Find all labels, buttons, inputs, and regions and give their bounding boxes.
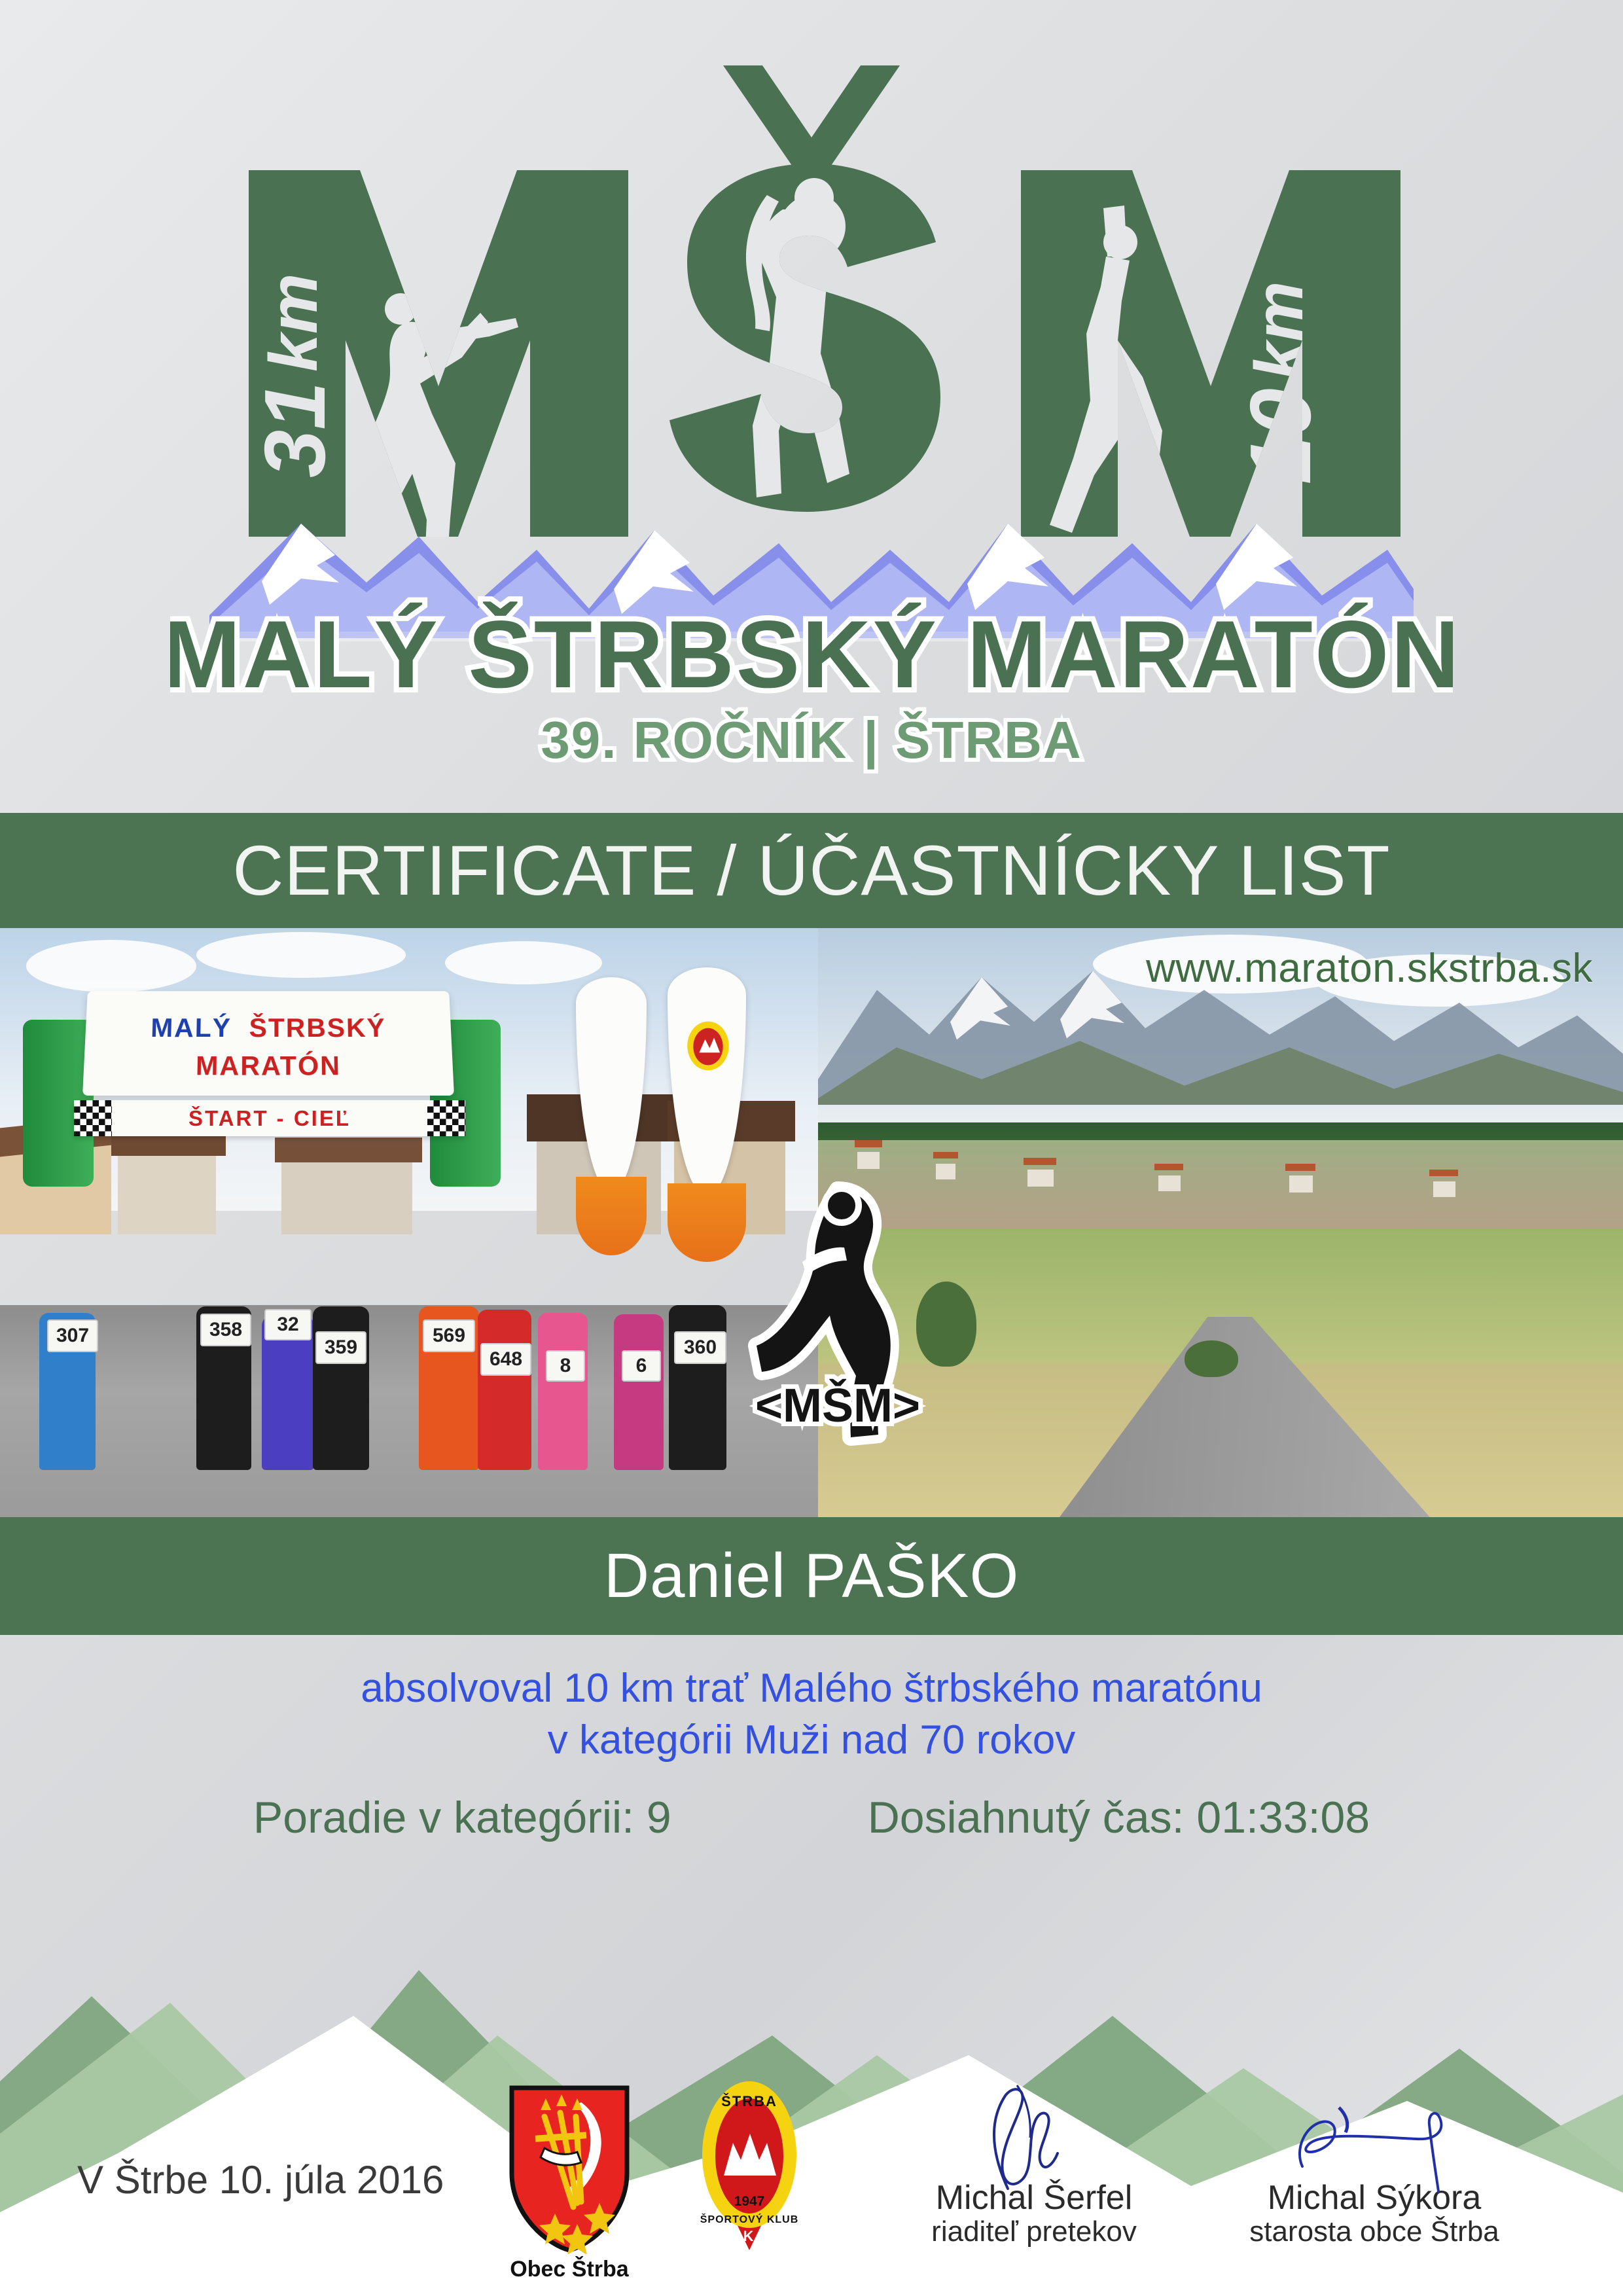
letter-s-center <box>669 164 940 512</box>
svg-text:10: 10 <box>1232 388 1329 484</box>
bib-number: 307 <box>47 1319 98 1352</box>
logo-subtitle: 39. ROČNÍK | ŠTRBA <box>541 711 1082 770</box>
photo-strip: MALÝ ŠTRBSKÝ MARATÓN ŠTART - CIEĽ <box>0 928 1623 1517</box>
certificate-heading-band: CERTIFICATE / ÚČASTNÍCKY LIST <box>0 813 1623 928</box>
signature-mark <box>864 2081 1204 2179</box>
logo-title: MALÝ ŠTRBSKÝ MARATÓN <box>170 601 1453 708</box>
results-row: Poradie v kategórii: 9 Dosiahnutý čas: 0… <box>0 1792 1623 1843</box>
bib-number: 358 <box>200 1314 251 1346</box>
bib-number: 648 <box>480 1343 531 1376</box>
participant-name: Daniel PAŠKO <box>604 1540 1020 1612</box>
rank-in-category: Poradie v kategórii: 9 <box>253 1792 671 1843</box>
letter-m-left: 31 km <box>247 170 628 575</box>
photo-race-start: MALÝ ŠTRBSKÝ MARATÓN ŠTART - CIEĽ <box>0 928 818 1517</box>
emblem-text: <MŠM> <box>755 1379 920 1432</box>
description-line-1: absolvoval 10 km trať Malého štrbského m… <box>0 1662 1623 1714</box>
sks-top-text: ŠTRBA <box>721 2093 777 2109</box>
svg-text:km: km <box>256 274 332 372</box>
certificate-heading: CERTIFICATE / ÚČASTNÍCKY LIST <box>232 835 1390 906</box>
sks-club-words: ŠPORTOVÝ KLUB <box>700 2213 799 2225</box>
bib-number: 360 <box>674 1331 726 1364</box>
certificate-page: 31 km <box>0 0 1623 2296</box>
sks-club-logo-icon: ŠTRBA 1947 Š K Š ŠPORTOVÝ KLUB <box>681 2077 818 2261</box>
arch-line-1: MALÝ ŠTRBSKÝ <box>85 1013 452 1043</box>
finish-time: Dosiahnutý čas: 01:33:08 <box>868 1792 1370 1843</box>
bush <box>1185 1340 1238 1377</box>
signature-block-mayor: Michal Sýkora starosta obce Štrba <box>1204 2081 1544 2248</box>
sks-flag-badge <box>686 1020 730 1072</box>
caron-accent <box>723 65 900 170</box>
participant-name-band: Daniel PAŠKO <box>0 1517 1623 1635</box>
bib-number: 6 <box>622 1350 661 1382</box>
svg-text:km: km <box>1241 281 1317 380</box>
sks-bottom-text: Š K Š <box>726 2228 773 2244</box>
bib-number: 359 <box>315 1331 366 1364</box>
photo-landscape: www.maraton.skstrba.sk <box>818 928 1623 1517</box>
msm-logo: 31 km <box>170 26 1453 785</box>
signature-block-director: Michal Šerfel riaditeľ pretekov <box>864 2081 1204 2248</box>
arch-line-2: MARATÓN <box>83 1050 454 1081</box>
bib-number: 8 <box>546 1350 585 1382</box>
sks-year: 1947 <box>734 2194 765 2209</box>
start-finish-text: ŠTART - CIEĽ <box>188 1106 351 1131</box>
description-block: absolvoval 10 km trať Malého štrbského m… <box>0 1662 1623 1767</box>
msm-logo-graphic: 31 km <box>170 26 1453 785</box>
bib-number: 32 <box>264 1309 312 1340</box>
letter-m-right: 10 km <box>1021 170 1400 546</box>
certificate-footer: V Štrbe 10. júla 2016 Obec Štrba <box>0 2081 1623 2296</box>
start-arch: MALÝ ŠTRBSKÝ MARATÓN ŠTART - CIEĽ <box>23 990 501 1187</box>
description-line-2: v kategórii Muži nad 70 rokov <box>0 1714 1623 1766</box>
signature-role: riaditeľ pretekov <box>864 2216 1204 2248</box>
signature-mark <box>1204 2081 1544 2179</box>
place-and-date: V Štrbe 10. júla 2016 <box>77 2157 444 2202</box>
obec-strba-crest-icon <box>504 2084 635 2254</box>
signature-role: starosta obce Štrba <box>1204 2216 1544 2248</box>
svg-text:31: 31 <box>247 382 343 478</box>
crest-caption: Obec Štrba <box>497 2257 641 2282</box>
arch-banner: MALÝ ŠTRBSKÝ MARATÓN <box>82 991 454 1096</box>
bib-number: 569 <box>423 1319 475 1352</box>
msm-runner-emblem: <MŠM> <box>740 1178 936 1453</box>
start-finish-banner: ŠTART - CIEĽ <box>74 1100 465 1136</box>
logo-hero: 31 km <box>0 0 1623 813</box>
website-url: www.maraton.skstrba.sk <box>1146 945 1593 992</box>
